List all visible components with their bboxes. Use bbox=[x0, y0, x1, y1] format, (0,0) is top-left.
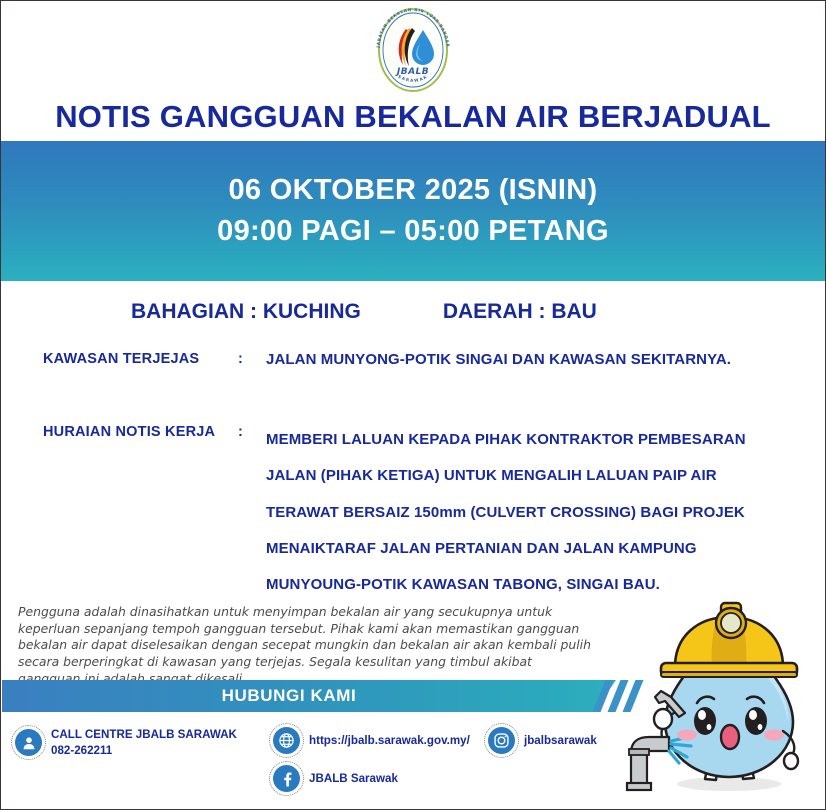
page-title: NOTIS GANGGUAN BEKALAN AIR BERJADUAL bbox=[1, 99, 825, 135]
website-url: https://jbalb.sarawak.gov.my/ bbox=[309, 733, 470, 749]
affected-area-colon: : bbox=[238, 349, 266, 369]
contact-us-bar: HUBUNGI KAMI bbox=[2, 680, 616, 712]
facebook-icon bbox=[273, 765, 300, 792]
jbalb-logo: JABATAN BEKALAN AIR LUAR BANDAR SARAWAK … bbox=[370, 7, 456, 93]
call-centre-text: CALL CENTRE JBALB SARAWAK 082-262211 bbox=[51, 727, 237, 758]
water-droplet-mascot bbox=[617, 591, 817, 803]
district-label: DAERAH : BAU bbox=[443, 300, 597, 324]
instagram-handle: jbalbsarawak bbox=[524, 733, 597, 749]
contact-call-centre[interactable]: CALL CENTRE JBALB SARAWAK 082-262211 bbox=[15, 727, 237, 758]
globe-icon bbox=[273, 727, 300, 754]
work-description-value: MEMBERI LALUAN KEPADA PIHAK KONTRAKTOR P… bbox=[266, 422, 825, 603]
contact-website[interactable]: https://jbalb.sarawak.gov.my/ bbox=[273, 727, 470, 754]
notice-time: 09:00 PAGI – 05:00 PETANG bbox=[217, 211, 609, 252]
work-description-row: HURAIAN NOTIS KERJA : MEMBERI LALUAN KEP… bbox=[1, 422, 825, 603]
affected-area-row: KAWASAN TERJEJAS : JALAN MUNYONG-POTIK S… bbox=[1, 349, 825, 370]
work-description-line: MEMBERI LALUAN KEPADA PIHAK KONTRAKTOR P… bbox=[266, 422, 825, 458]
jbalb-logo-svg: JABATAN BEKALAN AIR LUAR BANDAR SARAWAK … bbox=[370, 7, 456, 93]
work-description-colon: : bbox=[238, 422, 266, 442]
instagram-icon bbox=[488, 727, 515, 754]
date-time-banner: 06 OKTOBER 2025 (ISNIN) 09:00 PAGI – 05:… bbox=[1, 141, 825, 281]
svg-text:JBALB: JBALB bbox=[395, 67, 429, 77]
work-description-line: TERAWAT BERSAIZ 150mm (CULVERT CROSSING)… bbox=[266, 495, 825, 531]
notice-poster: JABATAN BEKALAN AIR LUAR BANDAR SARAWAK … bbox=[0, 0, 826, 810]
division-label: BAHAGIAN : KUCHING bbox=[131, 300, 361, 324]
call-centre-number: 082-262211 bbox=[51, 744, 112, 757]
work-description-line: MENAIKTARAF JALAN PERTANIAN DAN JALAN KA… bbox=[266, 531, 825, 567]
affected-area-line: JALAN MUNYONG-POTIK SINGAI DAN KAWASAN S… bbox=[266, 349, 825, 370]
affected-area-label: KAWASAN TERJEJAS bbox=[43, 349, 238, 369]
affected-area-value: JALAN MUNYONG-POTIK SINGAI DAN KAWASAN S… bbox=[266, 349, 825, 370]
facebook-name: JBALB Sarawak bbox=[309, 771, 398, 787]
contact-us-title: HUBUNGI KAMI bbox=[222, 686, 357, 706]
contact-facebook[interactable]: JBALB Sarawak bbox=[273, 765, 398, 792]
poster-header: JABATAN BEKALAN AIR LUAR BANDAR SARAWAK … bbox=[1, 1, 825, 141]
person-icon bbox=[15, 729, 42, 756]
notice-date: 06 OKTOBER 2025 (ISNIN) bbox=[229, 170, 598, 211]
region-row: BAHAGIAN : KUCHING DAERAH : BAU bbox=[1, 281, 825, 343]
work-description-line: JALAN (PIHAK KETIGA) UNTUK MENGALIH LALU… bbox=[266, 458, 825, 494]
work-description-label: HURAIAN NOTIS KERJA bbox=[43, 422, 238, 442]
contact-instagram[interactable]: jbalbsarawak bbox=[488, 727, 597, 754]
hard-hat-icon bbox=[661, 603, 797, 677]
mascot-svg bbox=[617, 591, 817, 803]
call-centre-name: CALL CENTRE JBALB SARAWAK bbox=[51, 728, 237, 741]
